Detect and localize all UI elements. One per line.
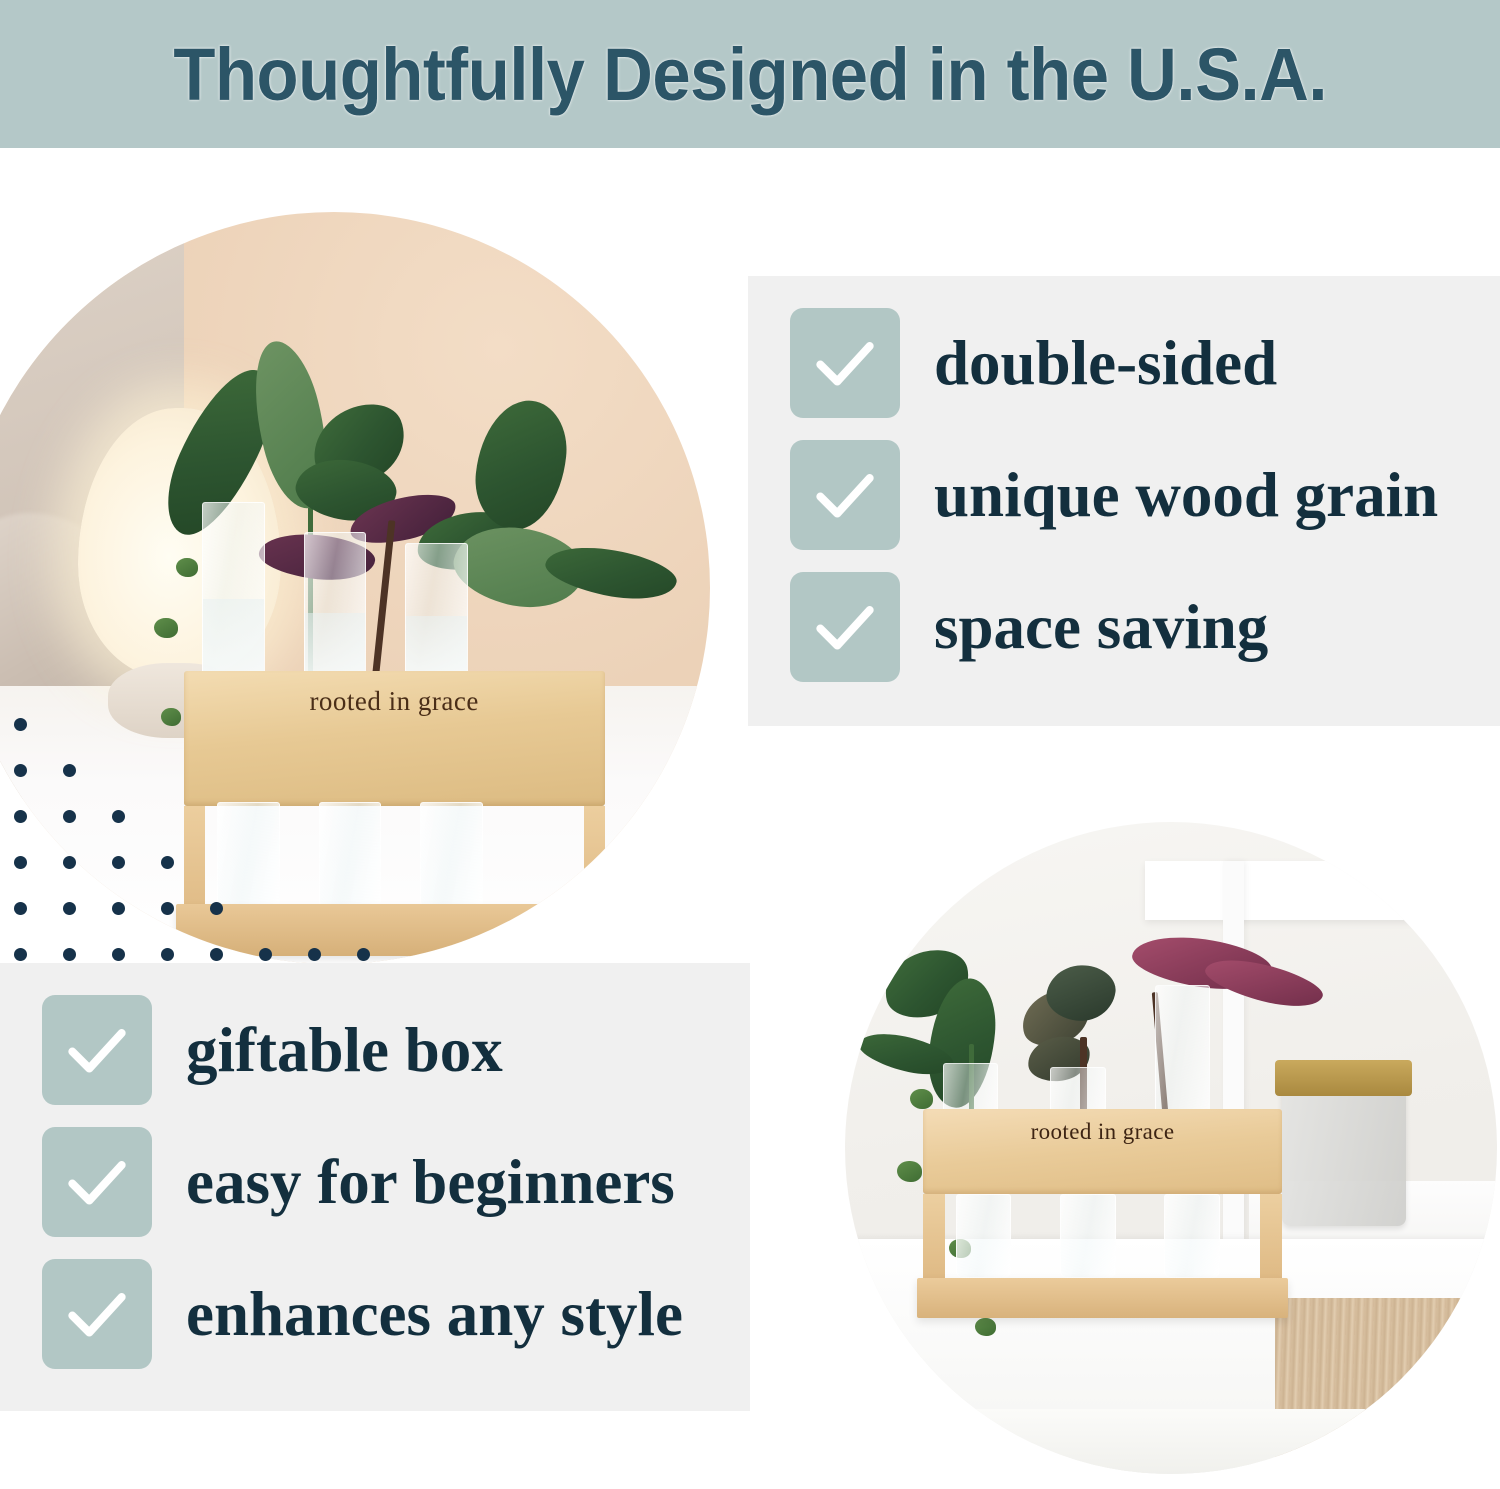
feature-label: giftable box xyxy=(186,1019,503,1082)
photo-glass-tube xyxy=(420,802,482,907)
decorative-dot xyxy=(259,948,272,961)
decorative-dot xyxy=(161,856,174,869)
feature-label: easy for beginners xyxy=(186,1151,675,1214)
photo-vine-leaf xyxy=(154,618,178,638)
feature-row: unique wood grain xyxy=(790,440,1438,550)
feature-panel-top-right: double-sided unique wood grain space sav… xyxy=(748,276,1500,726)
dot-grid-decoration xyxy=(14,718,364,958)
photo-glass-tube xyxy=(1155,985,1210,1122)
decorative-dot xyxy=(308,948,321,961)
photo-shelf-top xyxy=(1145,861,1497,920)
photo-vine-leaf xyxy=(975,1318,996,1336)
photo-engraved-text-bottom: rooted in grace xyxy=(923,1119,1282,1145)
decorative-dot xyxy=(112,856,125,869)
feature-list-top-right: double-sided unique wood grain space sav… xyxy=(790,308,1438,682)
photo-vine-leaf xyxy=(910,1089,933,1109)
feature-row: giftable box xyxy=(42,995,683,1105)
decorative-dot xyxy=(112,948,125,961)
photo-leaf xyxy=(470,396,571,534)
decorative-dot xyxy=(210,948,223,961)
photo-glass-tube xyxy=(956,1194,1011,1279)
decorative-dot xyxy=(112,810,125,823)
decorative-dot xyxy=(14,856,27,869)
feature-label: double-sided xyxy=(934,332,1277,395)
photo-glass-tube xyxy=(304,532,366,682)
decorative-dot xyxy=(63,948,76,961)
decorative-dot xyxy=(14,718,27,731)
photo-engraved-text-top: rooted in grace xyxy=(184,686,605,717)
check-icon xyxy=(42,995,152,1105)
photo-stand-leg xyxy=(1260,1194,1282,1279)
photo-open-book xyxy=(897,1409,1366,1474)
feature-row: double-sided xyxy=(790,308,1438,418)
photo-stand-leg xyxy=(923,1194,945,1279)
check-icon xyxy=(790,572,900,682)
photo-vine-leaf xyxy=(897,1161,922,1182)
photo-tube-water xyxy=(203,599,263,681)
decorative-dot xyxy=(63,902,76,915)
decorative-dot xyxy=(63,856,76,869)
feature-label: unique wood grain xyxy=(934,464,1438,527)
decorative-dot xyxy=(14,810,27,823)
photo-candle-lid xyxy=(1275,1060,1412,1096)
decorative-dot xyxy=(161,902,174,915)
photo-stand-floor xyxy=(917,1278,1289,1317)
decorative-dot xyxy=(357,948,370,961)
header-band: Thoughtfully Designed in the U.S.A. xyxy=(0,0,1500,148)
decorative-dot xyxy=(14,948,27,961)
feature-label: space saving xyxy=(934,596,1268,659)
decorative-dot xyxy=(63,810,76,823)
photo-tube-water xyxy=(406,616,466,677)
photo-candle-jar xyxy=(1282,1083,1406,1226)
product-photo-bottom-right: rooted in grace xyxy=(845,822,1497,1474)
check-icon xyxy=(42,1127,152,1237)
photo-vine-leaf xyxy=(176,558,198,577)
photo-glass-tube xyxy=(202,502,264,682)
feature-panel-bottom-left: giftable box easy for beginners enhances… xyxy=(0,963,750,1411)
decorative-dot xyxy=(112,902,125,915)
decorative-dot xyxy=(14,902,27,915)
photo-glass-tube xyxy=(1164,1194,1219,1279)
feature-label: enhances any style xyxy=(186,1283,683,1346)
check-icon xyxy=(42,1259,152,1369)
photo-glass-tube xyxy=(1060,1194,1115,1279)
decorative-dot xyxy=(161,948,174,961)
photo-glass-tube xyxy=(405,543,467,678)
decorative-dot xyxy=(63,764,76,777)
feature-row: easy for beginners xyxy=(42,1127,683,1237)
page-title: Thoughtfully Designed in the U.S.A. xyxy=(173,32,1327,117)
check-icon xyxy=(790,440,900,550)
decorative-dot xyxy=(14,764,27,777)
infographic-page: Thoughtfully Designed in the U.S.A. xyxy=(0,0,1500,1489)
feature-row: space saving xyxy=(790,572,1438,682)
feature-list-bottom-left: giftable box easy for beginners enhances… xyxy=(42,995,683,1369)
check-icon xyxy=(790,308,900,418)
feature-row: enhances any style xyxy=(42,1259,683,1369)
decorative-dot xyxy=(210,902,223,915)
photo-stand-leg xyxy=(584,806,605,919)
